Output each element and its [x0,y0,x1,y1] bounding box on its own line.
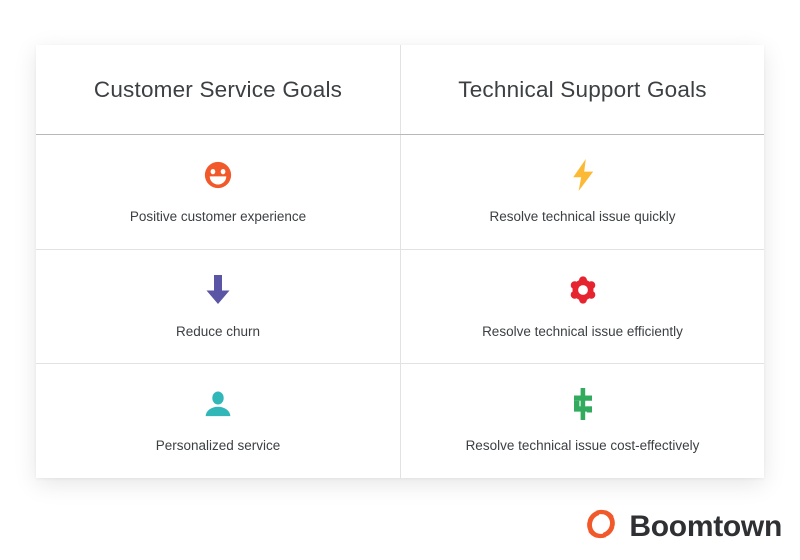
goal-label: Reduce churn [176,324,260,341]
lightning-bolt-icon [570,158,596,192]
column-header-customer-service: Customer Service Goals [36,45,400,134]
column-header-technical-support: Technical Support Goals [400,45,764,134]
table-row: Positive customer experience Resolve tec… [36,135,764,249]
brand-name: Boomtown [629,512,782,542]
goal-label: Resolve technical issue quickly [489,209,675,226]
goal-label: Resolve technical issue efficiently [482,324,683,341]
arrow-down-icon [205,273,231,307]
goals-table: Customer Service Goals Technical Support… [36,45,764,478]
comparison-table-card: Customer Service Goals Technical Support… [36,45,764,478]
goal-cell-resolve-technical-issue-quickly: Resolve technical issue quickly [400,135,764,249]
goal-cell-personalized-service: Personalized service [36,364,400,478]
goal-label: Positive customer experience [130,209,306,226]
goal-cell-resolve-technical-issue-efficiently: Resolve technical issue efficiently [400,250,764,364]
smiley-face-icon [203,158,233,192]
table-header-row: Customer Service Goals Technical Support… [36,45,764,135]
dollar-sign-icon [571,387,595,421]
column-title: Technical Support Goals [458,77,707,103]
user-person-icon [204,387,232,421]
goal-label: Personalized service [156,438,281,455]
goal-label: Resolve technical issue cost-effectively [466,438,700,455]
goal-cell-positive-customer-experience: Positive customer experience [36,135,400,249]
goal-cell-resolve-technical-issue-cost-effectively: Resolve technical issue cost-effectively [400,364,764,478]
gear-icon [568,273,598,307]
goal-cell-reduce-churn: Reduce churn [36,250,400,364]
brand-logo: Boomtown [584,507,782,546]
table-row: Reduce churn [36,249,764,364]
table-row: Personalized service [36,363,764,478]
page-canvas: Customer Service Goals Technical Support… [0,0,800,560]
column-title: Customer Service Goals [94,77,342,103]
boomtown-swirl-logo-icon [584,507,618,546]
